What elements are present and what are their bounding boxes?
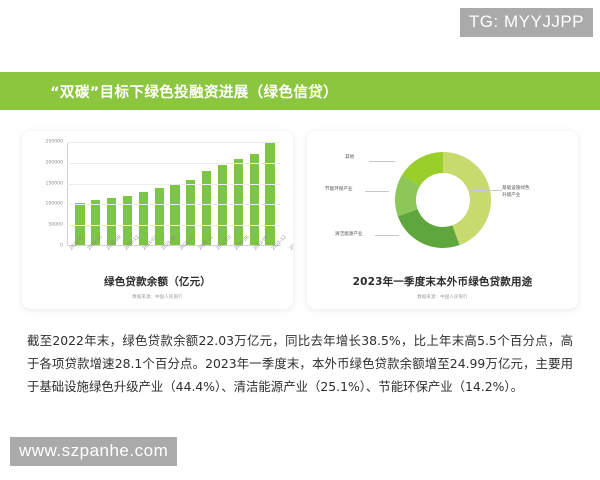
bar-chart-plot: 050000100000150000200000250000	[35, 142, 283, 246]
bar	[202, 171, 211, 245]
gridline	[67, 225, 281, 226]
charts-row: 050000100000150000200000250000 2020-0320…	[0, 131, 600, 309]
bar-column	[135, 142, 151, 245]
bar	[250, 154, 259, 245]
bar-column	[262, 142, 278, 245]
bar-chart-gridlines	[67, 142, 281, 246]
donut-label-infrastructure: 基础设施绿色 升级产业	[502, 185, 530, 199]
bar-column	[88, 142, 104, 245]
bar-chart-y-axis: 050000100000150000200000250000	[35, 142, 65, 246]
bar-series	[69, 142, 281, 245]
bar-chart-x-axis: 2020-032020-062020-092020-122021-032021-…	[69, 248, 281, 274]
bar-column	[199, 142, 215, 245]
bar-chart-card: 050000100000150000200000250000 2020-0320…	[22, 131, 293, 309]
bar-column	[167, 142, 183, 245]
donut-label-infrastructure-line2: 升级产业	[502, 192, 530, 199]
bar	[139, 192, 148, 245]
watermark-bottom: www.szpanhe.com	[10, 437, 177, 466]
bar	[265, 142, 274, 245]
bar-column	[151, 142, 167, 245]
gridline	[67, 142, 281, 143]
bar-column	[215, 142, 231, 245]
leader-line-clean	[375, 235, 399, 236]
donut-chart-svg	[388, 145, 498, 255]
y-axis-tick-label: 100000	[45, 202, 63, 207]
y-axis-tick-label: 150000	[45, 181, 63, 186]
y-axis-line	[67, 142, 68, 246]
page-title: “双碳”目标下绿色投融资进展（绿色信贷）	[50, 81, 338, 102]
donut-label-infrastructure-line1: 基础设施绿色	[502, 185, 530, 192]
donut-label-clean-energy: 清洁能源产业	[335, 231, 363, 238]
leader-line-other	[369, 161, 395, 162]
bar-column	[104, 142, 120, 245]
bar-column	[246, 142, 262, 245]
leader-line-energy	[365, 191, 389, 192]
bar-chart-title: 绿色贷款余额（亿元）	[22, 274, 293, 289]
y-axis-tick-label: 250000	[45, 140, 63, 145]
gridline	[67, 163, 281, 164]
donut-chart-source: 数据来源：中国人民银行	[307, 294, 578, 300]
bar-column	[230, 142, 246, 245]
bar-column	[120, 142, 136, 245]
donut-chart-card: 基础设施绿色 升级产业 其他 节能环保产业 清洁能源产业 2023年一季度末本外…	[307, 131, 578, 309]
bar-column	[72, 142, 88, 245]
y-axis-tick-label: 50000	[48, 223, 63, 228]
donut-label-energy-saving: 节能环保产业	[325, 186, 353, 193]
bar-column	[183, 142, 199, 245]
donut-label-other: 其他	[345, 154, 354, 161]
bar-chart-source: 数据来源：中国人民银行	[22, 294, 293, 300]
y-axis-tick-label: 0	[60, 244, 63, 249]
body-paragraph: 截至2022年末，绿色贷款余额22.03万亿元，同比去年增长38.5%，比上年末…	[27, 330, 573, 399]
donut-chart-title: 2023年一季度末本外币绿色贷款用途	[307, 274, 578, 289]
bar	[234, 159, 243, 245]
gridline	[67, 184, 281, 185]
y-axis-tick-label: 200000	[45, 160, 63, 165]
donut-slice	[397, 209, 459, 248]
header-banner: “双碳”目标下绿色投融资进展（绿色信贷）	[0, 72, 600, 110]
gridline	[67, 204, 281, 205]
donut-chart-plot: 基础设施绿色 升级产业 其他 节能环保产业 清洁能源产业	[307, 145, 578, 255]
leader-line-infra	[468, 190, 502, 191]
watermark-top: TG: MYYJJPP	[460, 8, 593, 37]
